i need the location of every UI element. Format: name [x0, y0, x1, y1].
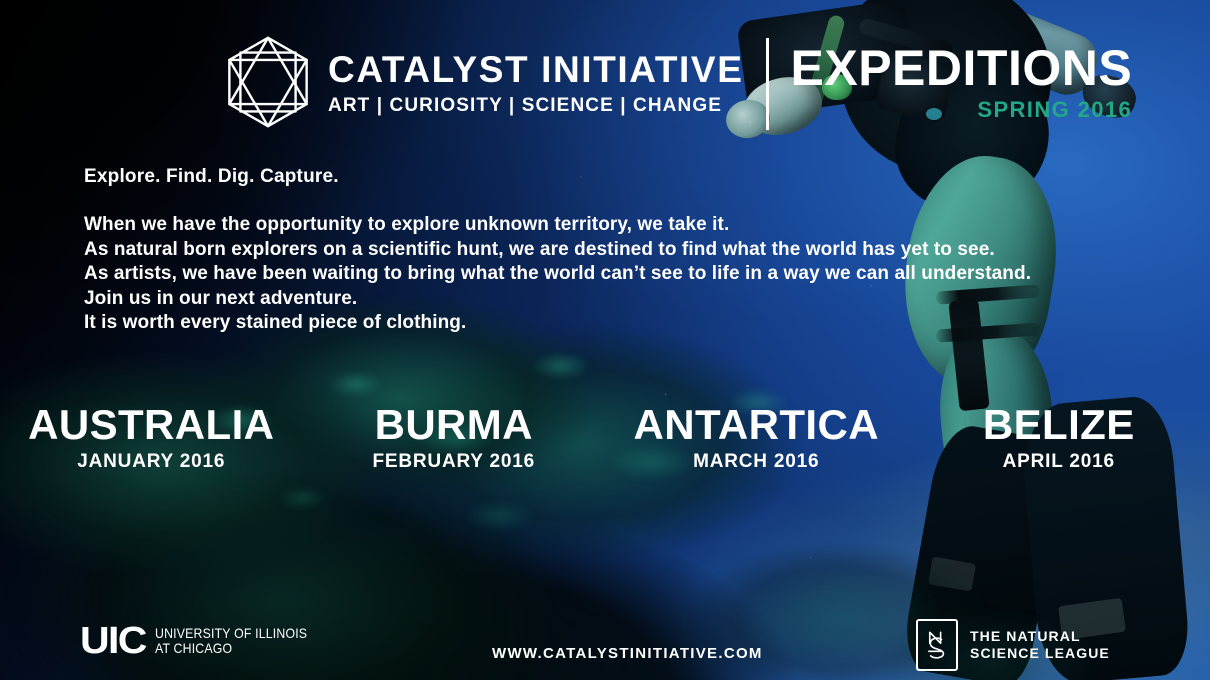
destination-list: AUSTRALIA JANUARY 2016 BURMA FEBRUARY 20… [0, 404, 1210, 473]
body-line: When we have the opportunity to explore … [84, 213, 1031, 238]
destination-name: BURMA [303, 404, 606, 447]
destination-date: FEBRUARY 2016 [303, 451, 606, 473]
destination-item-belize[interactable]: BELIZE APRIL 2016 [908, 404, 1210, 473]
destination-date: APRIL 2016 [908, 451, 1210, 473]
brand-block: CATALYST INITIATIVE ART | CURIOSITY | SC… [328, 46, 744, 116]
destination-name: ANTARTICA [605, 404, 908, 447]
uic-logo[interactable]: UIC UNIVERSITY OF ILLINOIS AT CHICAGO [80, 622, 328, 660]
uic-name-lines: UNIVERSITY OF ILLINOIS AT CHICAGO [155, 626, 328, 656]
body-line: It is worth every stained piece of cloth… [84, 311, 1031, 336]
brand-name: CATALYST INITIATIVE [328, 50, 744, 89]
body-line: As artists, we have been waiting to brin… [84, 262, 1031, 287]
body-line: Join us in our next adventure. [84, 287, 1031, 312]
destination-date: JANUARY 2016 [0, 451, 303, 473]
expedition-title: EXPEDITIONS [791, 43, 1133, 93]
destination-item-australia[interactable]: AUSTRALIA JANUARY 2016 [0, 404, 303, 473]
partner-name-line-2: SCIENCE LEAGUE [970, 645, 1110, 662]
body-copy: When we have the opportunity to explore … [84, 213, 1031, 336]
destination-date: MARCH 2016 [605, 451, 908, 473]
website-url[interactable]: WWW.CATALYSTINITIATIVE.COM [492, 645, 763, 662]
natural-science-league-logo[interactable]: THE NATURAL SCIENCE LEAGUE [916, 619, 1110, 671]
destination-name: BELIZE [908, 404, 1210, 447]
brand-tagline: ART | CURIOSITY | SCIENCE | CHANGE [328, 95, 744, 117]
poster-content: CATALYST INITIATIVE ART | CURIOSITY | SC… [0, 0, 1210, 680]
destination-item-burma[interactable]: BURMA FEBRUARY 2016 [303, 404, 606, 473]
expedition-poster: CATALYST INITIATIVE ART | CURIOSITY | SC… [0, 0, 1210, 680]
uic-name-line-2: AT CHICAGO [155, 641, 307, 656]
ns-monogram-badge-icon [916, 619, 958, 671]
destination-name: AUSTRALIA [0, 404, 303, 447]
icosahedron-wireframe-logo-icon [222, 34, 314, 130]
partner-name-lines: THE NATURAL SCIENCE LEAGUE [970, 628, 1110, 662]
header-divider [766, 38, 769, 130]
poster-header: CATALYST INITIATIVE ART | CURIOSITY | SC… [222, 33, 1132, 130]
body-line: As natural born explorers on a scientifi… [84, 238, 1031, 263]
expedition-block: EXPEDITIONS SPRING 2016 [791, 41, 1133, 123]
uic-name-line-1: UNIVERSITY OF ILLINOIS [155, 626, 307, 641]
partner-name-line-1: THE NATURAL [970, 628, 1110, 645]
uic-wordmark: UIC [80, 622, 146, 660]
destination-item-antartica[interactable]: ANTARTICA MARCH 2016 [605, 404, 908, 473]
tagline: Explore. Find. Dig. Capture. [84, 166, 339, 188]
expedition-season: SPRING 2016 [791, 97, 1133, 123]
